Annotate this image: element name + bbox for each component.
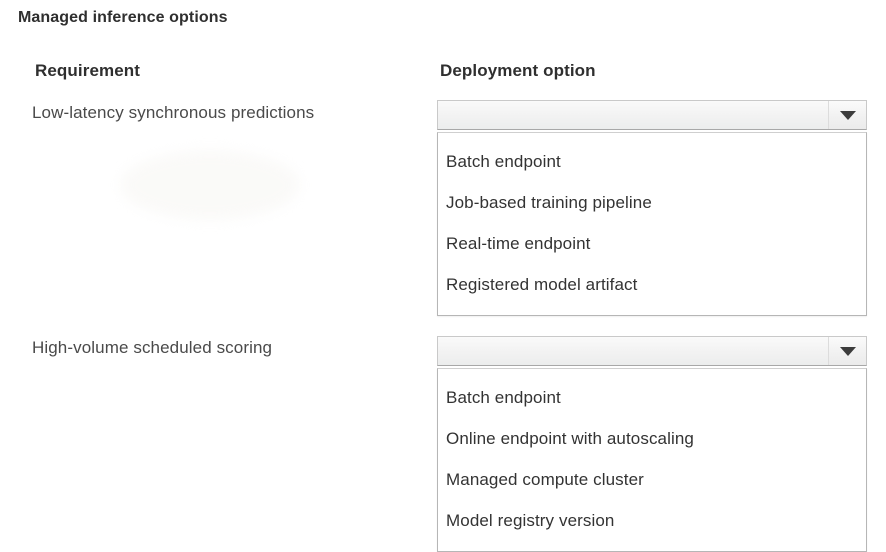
chevron-down-icon[interactable] xyxy=(828,101,866,129)
page-title: Managed inference options xyxy=(18,9,228,27)
list-item[interactable]: Batch endpoint xyxy=(438,377,866,418)
deployment-option-dropdown-0: Batch endpoint Job-based training pipeli… xyxy=(437,100,867,316)
list-item[interactable]: Registered model artifact xyxy=(438,264,866,305)
list-item[interactable]: Managed compute cluster xyxy=(438,459,866,500)
deployment-option-dropdown-1: Batch endpoint Online endpoint with auto… xyxy=(437,336,867,552)
combobox-0-listbox[interactable]: Batch endpoint Job-based training pipeli… xyxy=(437,132,867,316)
chevron-down-glyph xyxy=(840,111,856,120)
list-item[interactable]: Job-based training pipeline xyxy=(438,182,866,223)
combobox-1[interactable] xyxy=(437,336,867,366)
requirement-label-1: High-volume scheduled scoring xyxy=(32,338,272,358)
column-header-deployment-option: Deployment option xyxy=(440,61,596,81)
scan-artifact xyxy=(120,150,300,220)
column-header-requirement: Requirement xyxy=(35,61,140,81)
combobox-0[interactable] xyxy=(437,100,867,130)
list-item[interactable]: Model registry version xyxy=(438,500,866,541)
requirement-label-0: Low-latency synchronous predictions xyxy=(32,103,314,123)
list-item[interactable]: Real-time endpoint xyxy=(438,223,866,264)
chevron-down-glyph xyxy=(840,347,856,356)
chevron-down-icon[interactable] xyxy=(828,337,866,365)
combobox-1-listbox[interactable]: Batch endpoint Online endpoint with auto… xyxy=(437,368,867,552)
list-item[interactable]: Online endpoint with autoscaling xyxy=(438,418,866,459)
list-item[interactable]: Batch endpoint xyxy=(438,141,866,182)
